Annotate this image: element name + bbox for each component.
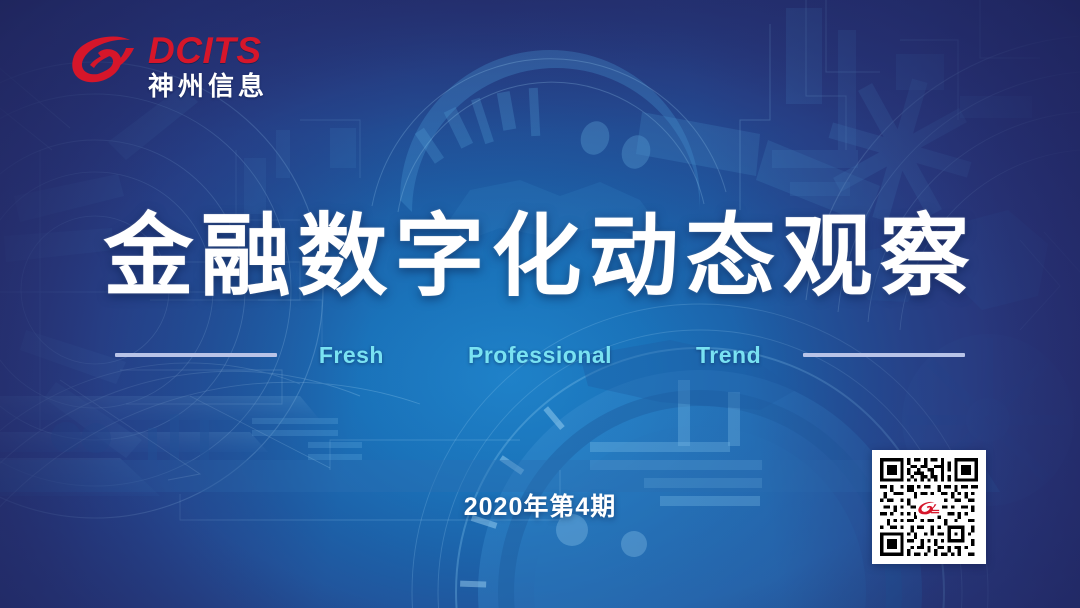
- brand-name-en: DCITS: [148, 32, 268, 69]
- divider-line-right: [803, 353, 965, 357]
- keyword-fresh: Fresh: [319, 342, 384, 369]
- poster-title: 金融数字化动态观察: [0, 183, 1080, 313]
- brand-name-cn: 神州信息: [148, 73, 268, 99]
- poster-canvas: DCITS 神州信息 金融数字化动态观察 Fresh Professional …: [0, 0, 1080, 608]
- keyword-row: Fresh Professional Trend: [0, 340, 1080, 370]
- keyword-professional: Professional: [468, 342, 612, 369]
- brand-logo[interactable]: DCITS 神州信息: [68, 30, 268, 99]
- qr-center-logo-icon: [916, 499, 942, 516]
- keyword-trend: Trend: [696, 342, 761, 369]
- qr-code[interactable]: [872, 450, 986, 564]
- divider-line-left: [115, 353, 277, 357]
- dcits-swoosh-icon: [68, 32, 140, 98]
